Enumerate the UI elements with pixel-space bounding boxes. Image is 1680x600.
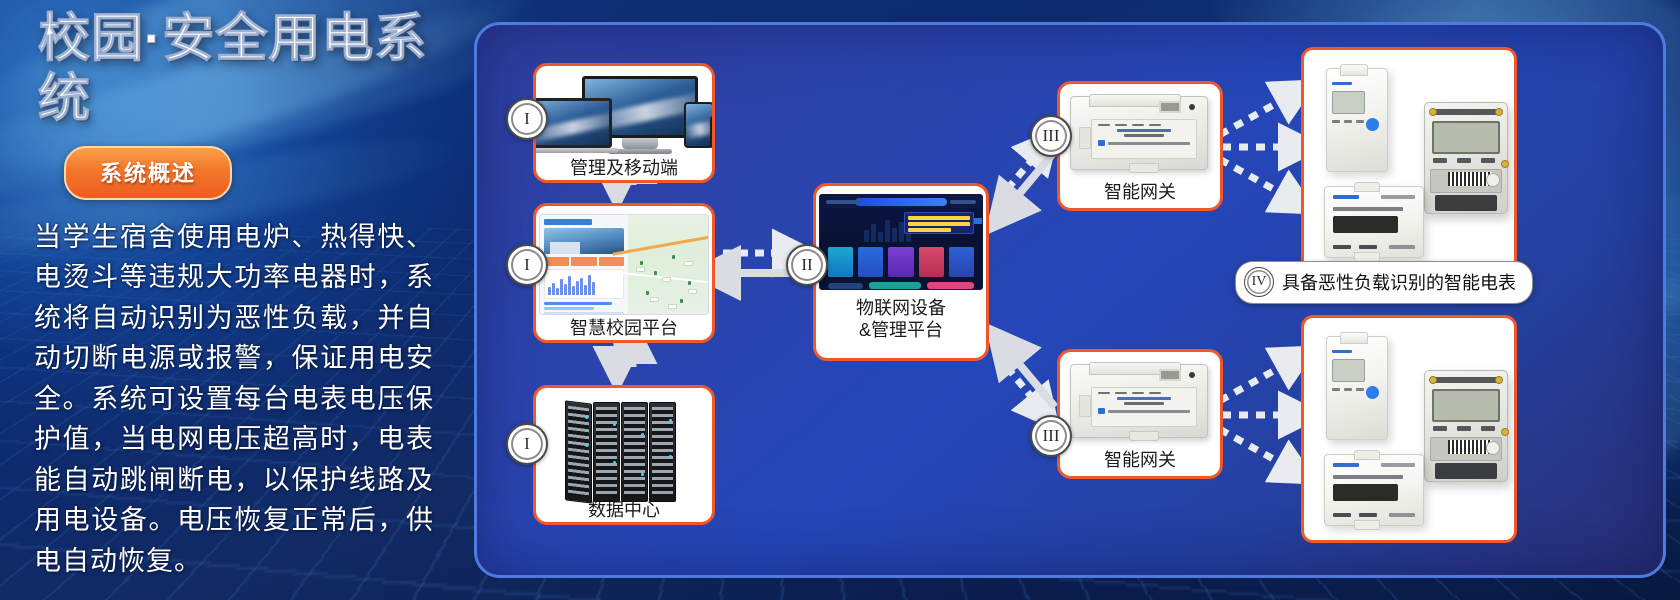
- node-label-gateway-bottom: 智能网关: [1060, 450, 1220, 472]
- node-label-smart-campus: 智慧校园平台: [536, 318, 712, 340]
- server-rack-icon: [593, 402, 620, 502]
- badge-roman-iii-gateway-top: III: [1030, 115, 1072, 157]
- node-label-admin-mobile: 管理及移动端: [536, 158, 712, 180]
- iot-header: [820, 195, 982, 208]
- badge-roman-i-admin: I: [506, 98, 548, 140]
- phone-icon: [710, 116, 715, 148]
- node-gateway-bottom[interactable]: 智能网关: [1057, 349, 1223, 479]
- meter-group-label-text: 具备恶性负载识别的智能电表: [1282, 269, 1516, 295]
- laptop-base: [533, 148, 618, 153]
- node-iot-platform[interactable]: 物联网设备 &管理平台: [813, 183, 989, 361]
- node-label-gateway-top: 智能网关: [1060, 182, 1220, 204]
- server-rack-icon: [621, 402, 648, 502]
- badge-roman-iii-gateway-bottom: III: [1030, 415, 1072, 457]
- badge-roman-i-datacenter: I: [506, 423, 548, 465]
- node-gateway-top[interactable]: 智能网关: [1057, 81, 1223, 211]
- data-center-mockup: [565, 402, 683, 494]
- campus-titlebar: [544, 219, 592, 225]
- devices-mockup: [533, 76, 715, 154]
- campus-photo: [544, 228, 624, 254]
- iot-hero: [820, 208, 982, 242]
- poster-root: 校园·安全用电系统 系统概述 当学生宿舍使用电炉、热得快、电烫斗等违规大功率电器…: [0, 0, 1680, 600]
- three-phase-meter-icon: [1424, 102, 1508, 214]
- gateway-faceplate: [1091, 387, 1197, 427]
- badge-roman-ii-iot: II: [786, 244, 828, 286]
- campus-progress-rows: [544, 302, 624, 315]
- status-badge-overview: 系统概述: [64, 146, 232, 200]
- wide-din-meter-icon: [1324, 186, 1424, 258]
- monitor-stand: [622, 138, 658, 149]
- node-admin-mobile[interactable]: 管理及移动端: [533, 63, 715, 183]
- architecture-diagram-panel: 管理及移动端 I: [474, 22, 1666, 578]
- usb-port-icon: [1159, 369, 1181, 381]
- left-text-column: 校园·安全用电系统 系统概述 当学生宿舍使用电炉、热得快、电烫斗等违规大功率电器…: [34, 10, 454, 582]
- campus-bar-chart: [544, 269, 624, 299]
- iot-footer: [820, 282, 982, 289]
- gateway-side-tab: [1079, 127, 1091, 149]
- iot-alert-box: [904, 212, 974, 234]
- smart-campus-mockup: [539, 214, 709, 315]
- badge-roman-iv-meters: IV: [1244, 267, 1274, 297]
- node-label-data-center: 数据中心: [536, 500, 712, 522]
- meter-group-bottom[interactable]: [1301, 315, 1517, 543]
- gateway-faceplate: [1091, 119, 1197, 159]
- node-data-center[interactable]: 数据中心: [533, 385, 715, 525]
- iot-dashboard-mockup: [819, 194, 983, 290]
- gateway-side-tab: [1079, 395, 1091, 417]
- gateway-bottom-rail: [1129, 431, 1159, 441]
- usb-port-icon: [1159, 101, 1181, 113]
- overview-paragraph: 当学生宿舍使用电炉、热得快、电烫斗等违规大功率电器时，系统将自动识别为恶性负载，…: [34, 218, 434, 583]
- wide-din-meter-icon: [1324, 454, 1424, 526]
- gateway-body: [1070, 96, 1208, 170]
- server-rack-icon: [649, 402, 676, 502]
- campus-map: [628, 215, 708, 314]
- node-smart-campus[interactable]: 智慧校园平台: [533, 203, 715, 343]
- campus-buttons: [544, 257, 624, 266]
- gateway-device-image-top: [1064, 92, 1216, 176]
- led-indicator-icon: [1189, 104, 1195, 110]
- gateway-body: [1070, 364, 1208, 438]
- led-indicator-icon: [1189, 372, 1195, 378]
- three-phase-meter-icon: [1424, 370, 1508, 482]
- gateway-bottom-rail: [1129, 163, 1159, 173]
- server-rack-icon: [565, 400, 592, 503]
- page-title: 校园·安全用电系统: [34, 10, 454, 130]
- meter-group-top[interactable]: [1301, 47, 1517, 275]
- node-label-iot-platform-line2: &管理平台: [818, 320, 984, 342]
- badge-roman-i-campus: I: [506, 244, 548, 286]
- campus-panel-left: [540, 215, 628, 314]
- node-label-iot-platform-line1: 物联网设备: [818, 298, 984, 320]
- din-rail-meter-icon: [1326, 68, 1388, 172]
- din-rail-meter-icon: [1326, 336, 1388, 440]
- iot-module-cards: [820, 242, 982, 282]
- gateway-device-image-bottom: [1064, 360, 1216, 444]
- meter-group-label-pill[interactable]: IV 具备恶性负载识别的智能电表: [1235, 261, 1533, 304]
